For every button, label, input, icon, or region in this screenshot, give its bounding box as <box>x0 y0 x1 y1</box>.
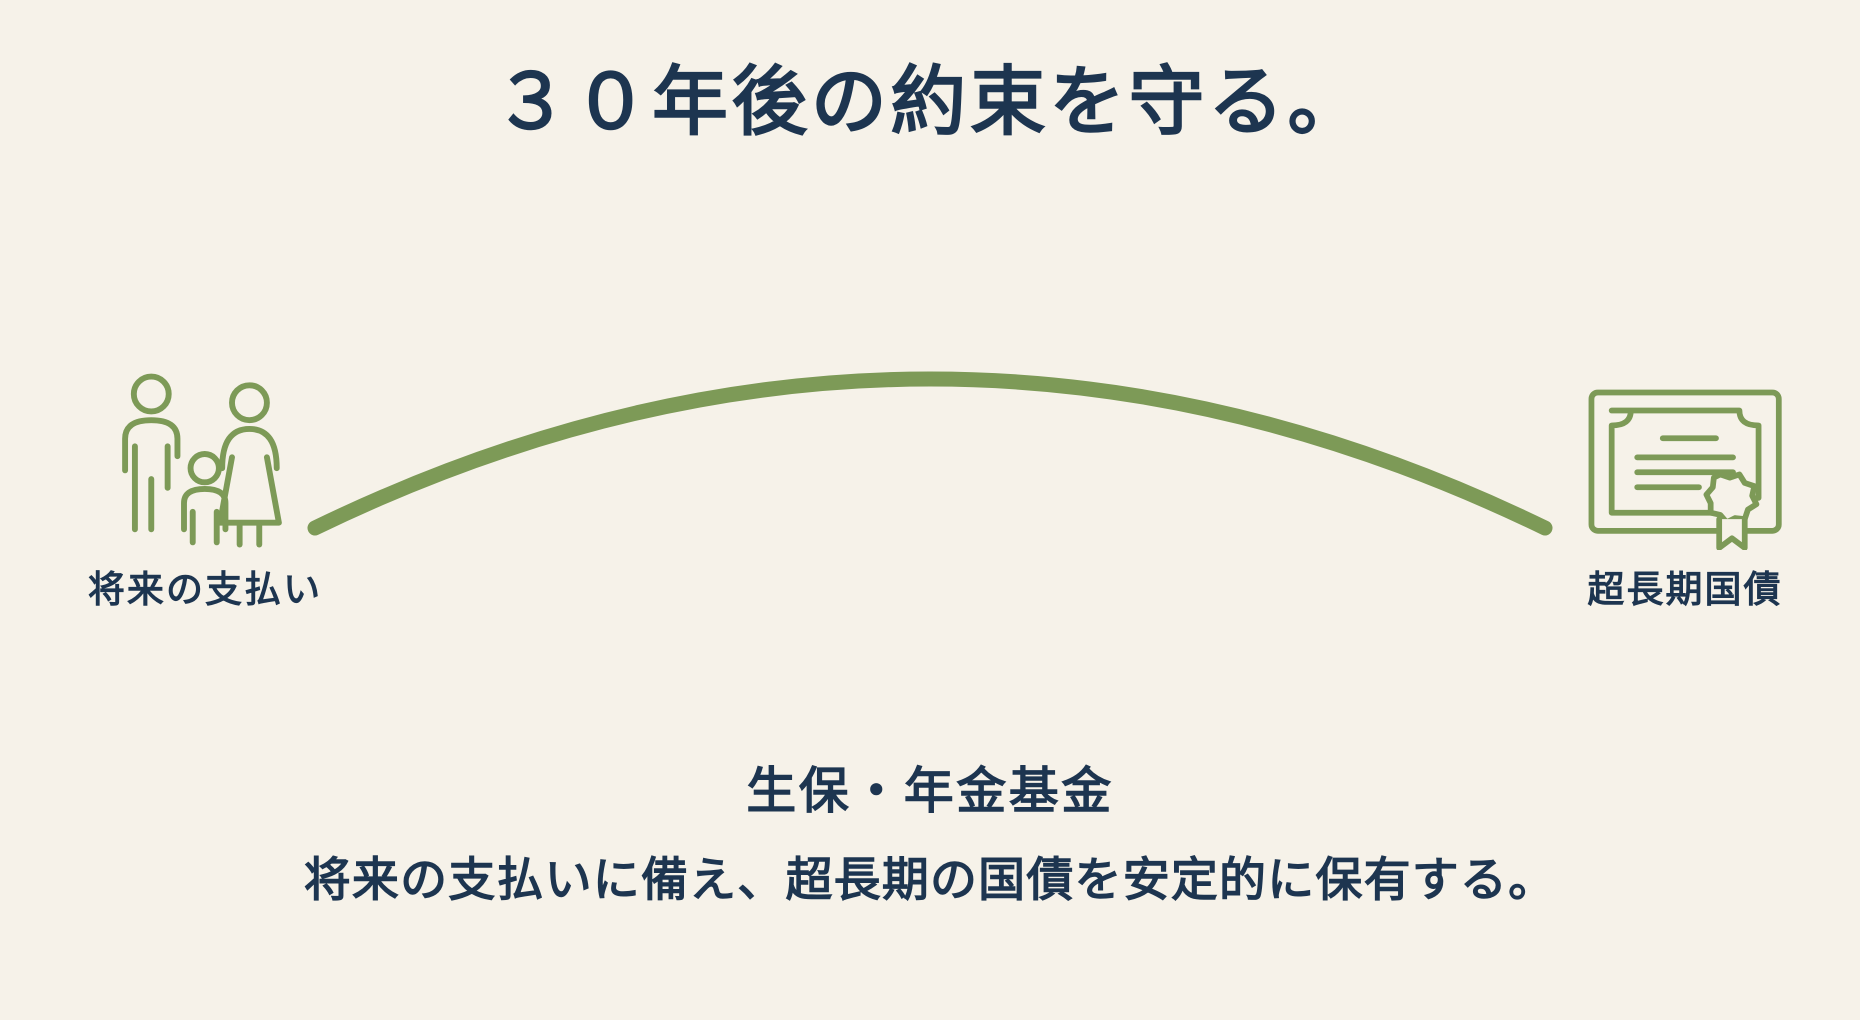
slide-root: ３０年後の約束を守る。 <box>0 0 1860 1020</box>
caption-block: 生保・年金基金 将来の支払いに備え、超長期の国債を安定的に保有する。 <box>0 760 1860 910</box>
connector-arc <box>315 379 1545 528</box>
node-label-future-payments: 将来の支払い <box>55 568 355 612</box>
certificate-icon <box>1584 385 1786 550</box>
caption-subtext: 将来の支払いに備え、超長期の国債を安定的に保有する。 <box>0 849 1860 910</box>
caption-heading: 生保・年金基金 <box>0 760 1860 823</box>
node-future-payments: 将来の支払い <box>55 370 355 612</box>
node-super-long-term-jgb: 超長期国債 <box>1535 385 1835 612</box>
node-label-super-long-term-jgb: 超長期国債 <box>1535 568 1835 612</box>
page-title: ３０年後の約束を守る。 <box>0 62 1860 146</box>
family-icon <box>112 370 297 550</box>
diagram-stage: 将来の支払い <box>0 250 1860 680</box>
